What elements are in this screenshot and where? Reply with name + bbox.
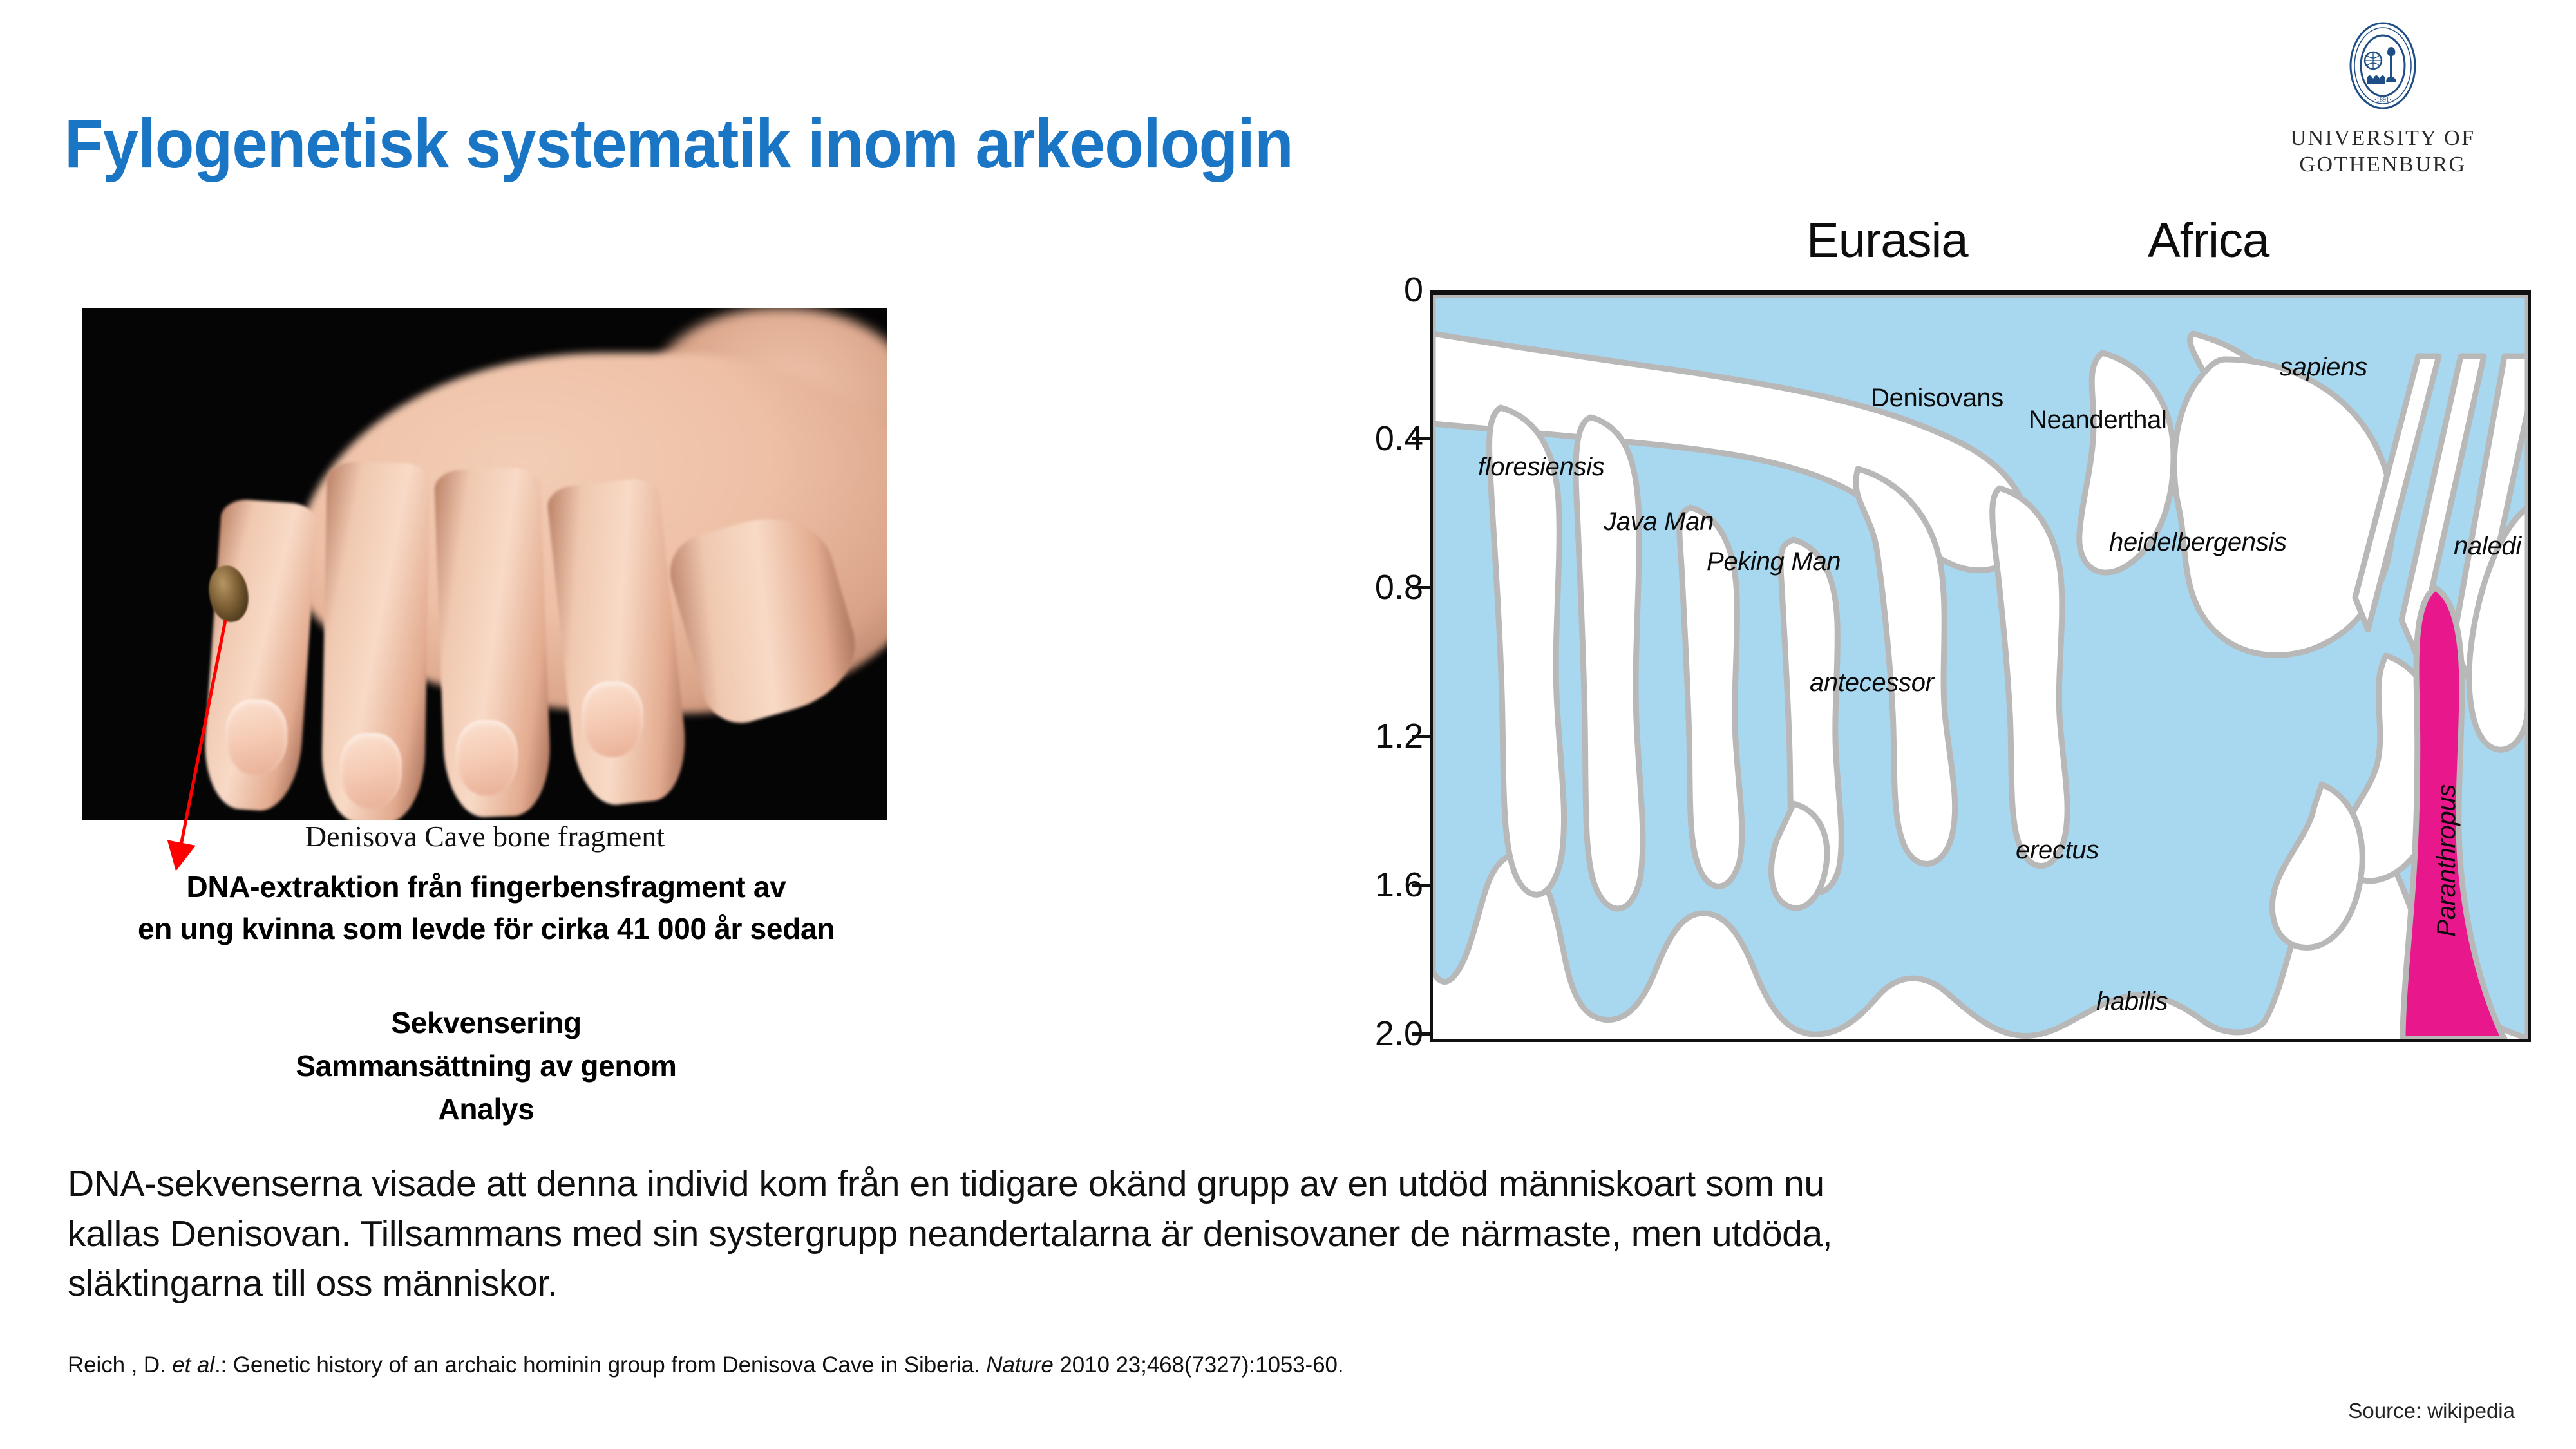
taxon-label-java-man: Java Man bbox=[1604, 507, 1714, 536]
logo-line-2: GOTHENBURG bbox=[2248, 151, 2518, 178]
dna-extraction-note: DNA-extraktion från fingerbensfragment a… bbox=[39, 866, 934, 951]
ytick-label-0: 0 bbox=[1294, 270, 1423, 310]
taxon-label-sapiens: sapiens bbox=[2280, 353, 2367, 382]
citation-mid: .: Genetic history of an archaic hominin… bbox=[214, 1352, 986, 1378]
nail-little bbox=[582, 681, 643, 757]
citation-line: Reich , D. et al.: Genetic history of an… bbox=[68, 1352, 2000, 1378]
region-label-africa: Africa bbox=[2148, 213, 2269, 269]
taxon-label-naledi: naledi bbox=[2454, 532, 2521, 561]
svg-text:·1891·: ·1891· bbox=[2374, 97, 2392, 104]
taxon-label-peking-man: Peking Man bbox=[1707, 547, 1841, 576]
source-note: Source: wikipedia bbox=[2348, 1399, 2515, 1423]
citation-journal: Nature bbox=[986, 1352, 1053, 1378]
dna-note-line-1: DNA-extraktion från fingerbensfragment a… bbox=[39, 866, 934, 908]
method-step-sequencing: Sekvensering bbox=[39, 1001, 934, 1045]
nail-index bbox=[225, 699, 287, 775]
method-step-assembly: Sammansättning av genom bbox=[39, 1045, 934, 1088]
method-step-analysis: Analys bbox=[39, 1088, 934, 1131]
citation-etal: et al bbox=[172, 1352, 214, 1378]
photo-canvas bbox=[82, 308, 887, 820]
hominin-phylogeny-chart: Eurasia Africa 0 0.4 0.8 1.2 1.6 2.0 bbox=[1327, 213, 2570, 1088]
chart-region-headers: Eurasia Africa bbox=[1327, 213, 2570, 280]
university-seal-icon: ·1891· bbox=[2345, 19, 2421, 116]
chart-plot-area: floresiensis Java Man Peking Man Denisov… bbox=[1430, 290, 2531, 1042]
taxon-label-habilis: habilis bbox=[2096, 987, 2168, 1016]
ytick-mark-0-4 bbox=[1412, 437, 1430, 440]
citation-post: 2010 23;468(7327):1053-60. bbox=[1054, 1352, 1344, 1378]
university-logo: ·1891· UNIVERSITY OF GOTHENBURG bbox=[2248, 19, 2518, 178]
taxon-label-heidelbergensis: heidelbergensis bbox=[2109, 528, 2287, 557]
taxon-label-erectus: erectus bbox=[2016, 836, 2099, 865]
taxon-label-floresiensis: floresiensis bbox=[1478, 453, 1604, 482]
ytick-label-2-0: 2.0 bbox=[1294, 1014, 1423, 1054]
ytick-label-0-4: 0.4 bbox=[1294, 419, 1423, 459]
taxon-label-denisovans: Denisovans bbox=[1871, 384, 2003, 413]
nail-ring bbox=[456, 720, 518, 796]
photo-caption: Denisova Cave bone fragment bbox=[82, 819, 887, 853]
dna-note-line-2: en ung kvinna som levde för cirka 41 000… bbox=[39, 908, 934, 950]
ytick-label-1-6: 1.6 bbox=[1294, 865, 1423, 905]
taxon-label-antecessor: antecessor bbox=[1810, 668, 1934, 697]
ytick-mark-2-0 bbox=[1412, 1032, 1430, 1036]
denisova-hand-photo bbox=[82, 308, 887, 820]
ytick-label-0-8: 0.8 bbox=[1294, 567, 1423, 607]
logo-line-1: UNIVERSITY OF bbox=[2248, 125, 2518, 151]
citation-pre: Reich , D. bbox=[68, 1352, 172, 1378]
region-label-eurasia: Eurasia bbox=[1806, 213, 1968, 269]
ytick-mark-1-6 bbox=[1412, 884, 1430, 887]
ytick-mark-0-8 bbox=[1412, 586, 1430, 589]
ytick-label-1-2: 1.2 bbox=[1294, 716, 1423, 756]
page-title: Fylogenetisk systematik inom arkeologin bbox=[64, 103, 1293, 184]
method-steps-list: Sekvensering Sammansättning av genom Ana… bbox=[39, 1001, 934, 1131]
ytick-mark-1-2 bbox=[1412, 735, 1430, 738]
taxon-label-paranthropus: Paranthropus bbox=[2432, 784, 2461, 937]
taxon-label-neanderthal: Neanderthal bbox=[2029, 406, 2167, 435]
nail-middle bbox=[340, 733, 402, 809]
body-paragraph: DNA-sekvenserna visade att denna individ… bbox=[68, 1159, 1864, 1309]
